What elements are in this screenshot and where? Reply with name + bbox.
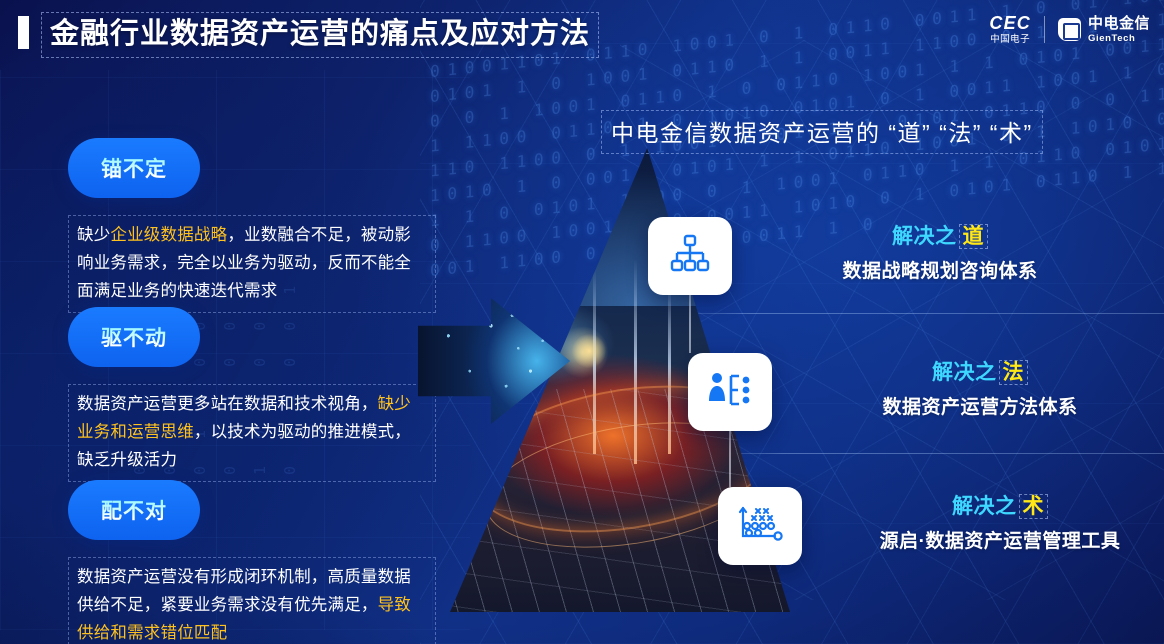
- pain-point-3-text-before: 数据资产运营没有形成闭环机制，高质量数据供给不足，紧要业务需求没有优先满足，: [77, 568, 411, 614]
- solution-card-1[interactable]: [648, 217, 732, 295]
- pain-point-1-badge-label: 锚不定: [101, 153, 167, 183]
- right-section-heading-text: 中电金信数据资产运营的 “道” “法” “术”: [611, 120, 1033, 146]
- strategy-chart-icon: [737, 504, 783, 549]
- solution-label-2: 解决之法 数据资产运营方法体系: [780, 358, 1164, 419]
- pain-point-2-text-before: 数据资产运营更多站在数据和技术视角，: [77, 395, 378, 413]
- solution-1-head: 解决之道: [740, 222, 1140, 252]
- pain-point-1-badge[interactable]: 锚不定: [68, 138, 200, 198]
- brand-logo: CEC 中国电子 中电金信 GienTech: [989, 14, 1150, 45]
- pain-point-1-text: 缺少企业级数据战略，业数融合不足，被动影响业务需求，完全以业务为驱动，反而不能全…: [68, 215, 436, 313]
- cec-logo-sub: 中国电子: [990, 35, 1030, 45]
- pain-point-1: 锚不定 缺少企业级数据战略，业数融合不足，被动影响业务需求，完全以业务为驱动，反…: [68, 138, 436, 313]
- org-chart-icon: [669, 234, 711, 279]
- slide-root: 01001101 0110 1001 0 1 0110 0011 1 0 01 …: [0, 0, 1164, 644]
- pain-point-2-badge-label: 驱不动: [101, 322, 167, 352]
- pain-point-2: 驱不动 数据资产运营更多站在数据和技术视角，缺少业务和运营思维，以技术为驱动的推…: [68, 307, 436, 482]
- solution-3-key: 术: [1019, 494, 1049, 519]
- solution-card-2[interactable]: [688, 353, 772, 431]
- solution-1-key: 道: [959, 224, 989, 249]
- solution-2-sub: 数据资产运营方法体系: [780, 392, 1164, 419]
- solution-2-head: 解决之法: [780, 358, 1164, 388]
- pain-point-3-badge-label: 配不对: [101, 495, 167, 525]
- gientech-logo-en: GienTech: [1088, 34, 1150, 44]
- solution-3-sub: 源启·数据资产运营管理工具: [800, 526, 1164, 553]
- solution-3-head-prefix: 解决之: [952, 495, 1017, 518]
- solution-card-3[interactable]: [718, 487, 802, 565]
- gientech-logo: 中电金信 GienTech: [1058, 16, 1150, 44]
- solution-label-1: 解决之道 数据战略规划咨询体系: [740, 222, 1140, 283]
- pain-points-column: 锚不定 缺少企业级数据战略，业数融合不足，被动影响业务需求，完全以业务为驱动，反…: [0, 0, 440, 644]
- cec-logo-main: CEC: [989, 14, 1031, 32]
- person-checklist-icon: [708, 371, 752, 414]
- logo-divider: [1044, 16, 1045, 43]
- pain-point-1-text-before: 缺少: [77, 226, 110, 244]
- card-connector-stem-2: [729, 431, 731, 487]
- gientech-mark-icon: [1058, 18, 1081, 41]
- solution-2-key: 法: [999, 360, 1029, 385]
- solution-1-head-prefix: 解决之: [892, 225, 957, 248]
- solution-1-sub: 数据战略规划咨询体系: [740, 256, 1140, 283]
- pain-point-3-badge[interactable]: 配不对: [68, 480, 200, 540]
- solution-label-3: 解决之术 源启·数据资产运营管理工具: [800, 492, 1164, 553]
- pain-point-2-badge[interactable]: 驱不动: [68, 307, 200, 367]
- gientech-logo-text: 中电金信 GienTech: [1088, 16, 1150, 44]
- pain-point-2-text: 数据资产运营更多站在数据和技术视角，缺少业务和运营思维，以技术为驱动的推进模式，…: [68, 384, 436, 482]
- pain-point-3-text: 数据资产运营没有形成闭环机制，高质量数据供给不足，紧要业务需求没有优先满足，导致…: [68, 557, 436, 644]
- solution-2-head-prefix: 解决之: [932, 361, 997, 384]
- card-connector-stem-1: [689, 295, 691, 353]
- gientech-logo-cn: 中电金信: [1088, 16, 1150, 31]
- pain-point-1-highlight: 企业级数据战略: [110, 226, 227, 244]
- cec-logo: CEC 中国电子: [989, 14, 1031, 45]
- right-section-heading: 中电金信数据资产运营的 “道” “法” “术”: [601, 110, 1043, 154]
- solution-3-head: 解决之术: [800, 492, 1164, 522]
- pain-point-3: 配不对 数据资产运营没有形成闭环机制，高质量数据供给不足，紧要业务需求没有优先满…: [68, 480, 436, 644]
